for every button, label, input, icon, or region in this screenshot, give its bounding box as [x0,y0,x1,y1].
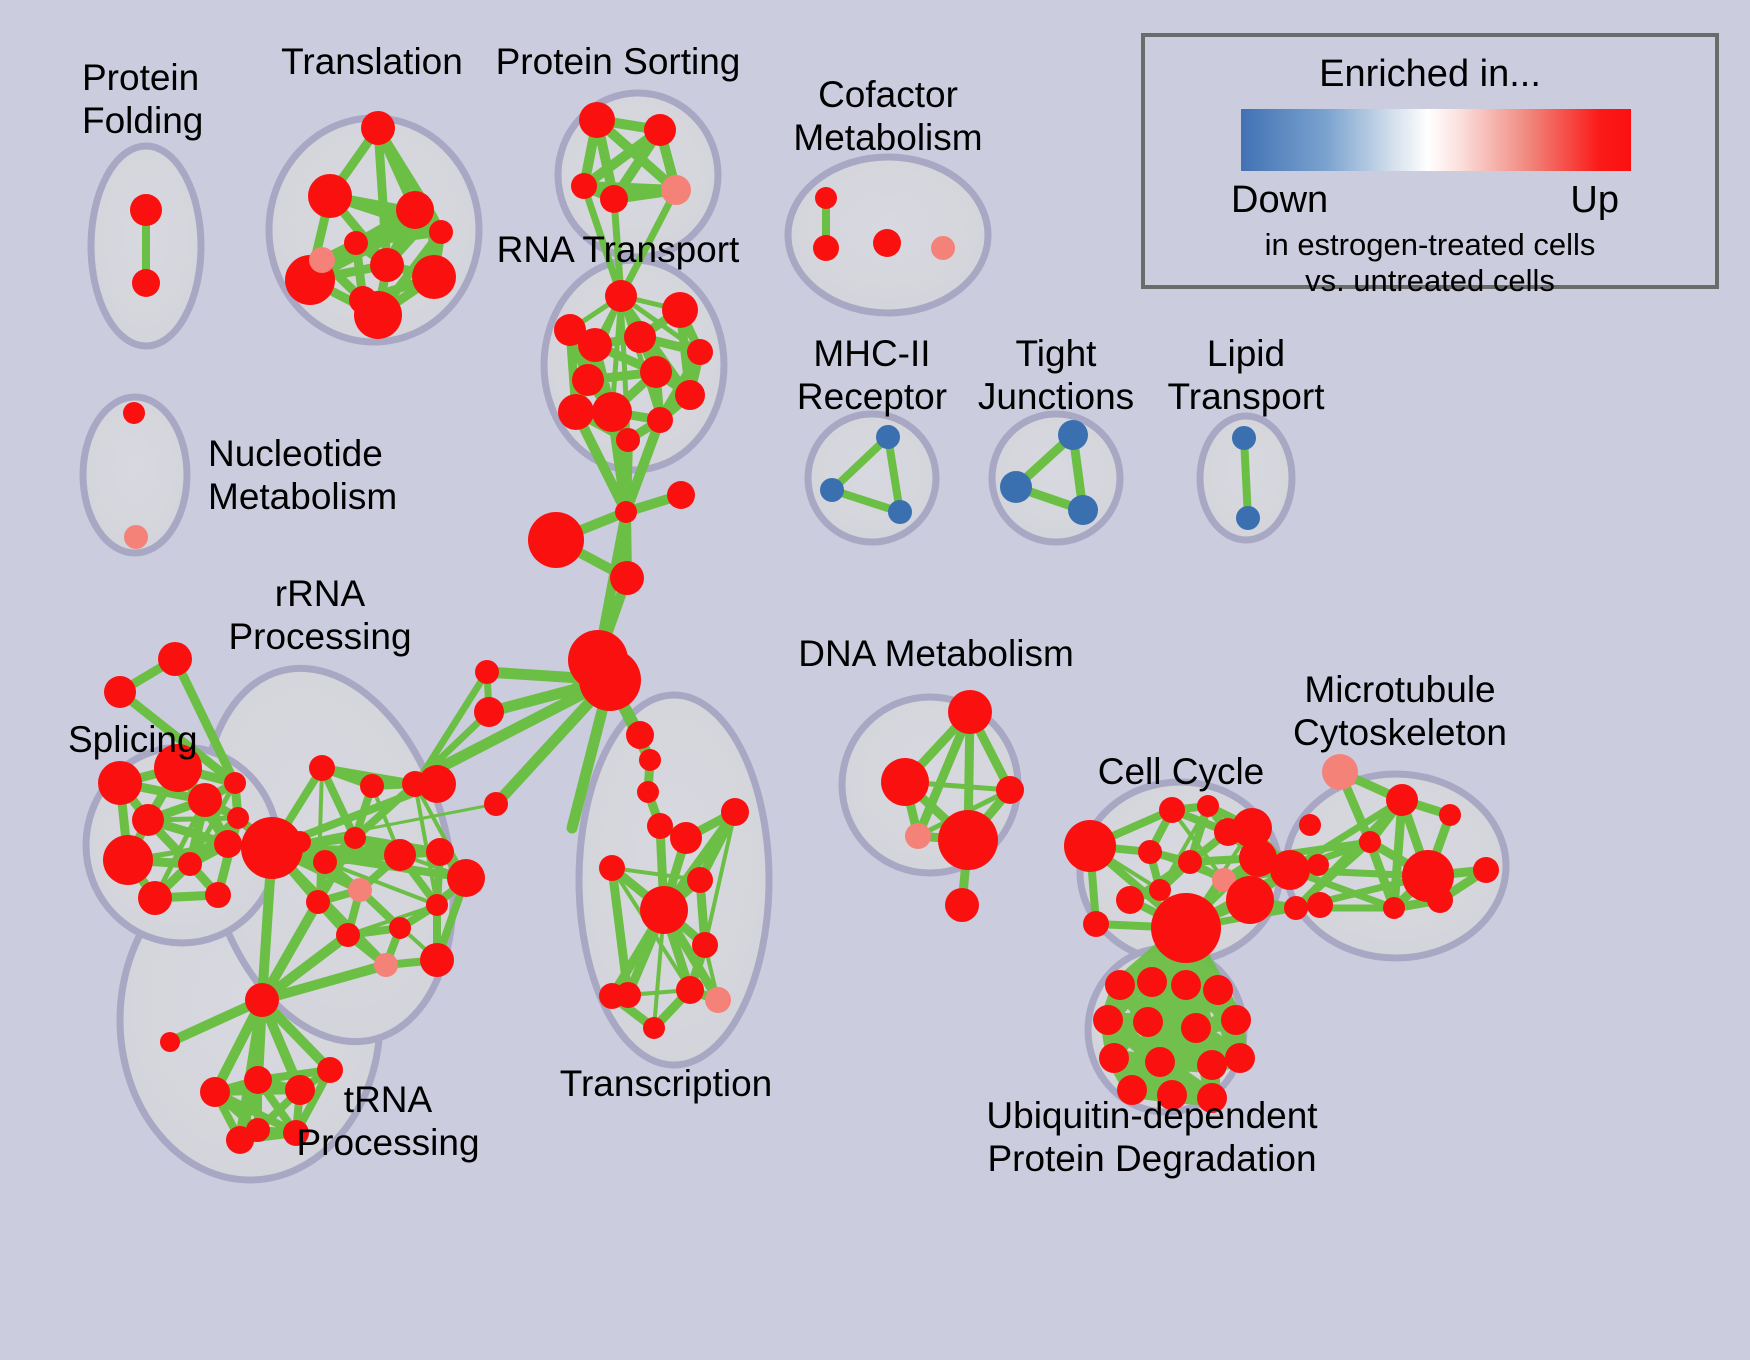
node [1225,1043,1255,1073]
node [484,792,508,816]
node [675,380,705,410]
cluster-label-protein-sorting: Protein Sorting [496,40,741,83]
node [160,1032,180,1052]
cluster-label-lipid-transport: Lipid Transport [1168,332,1325,418]
node [1159,797,1185,823]
node [905,823,931,849]
node [1383,897,1405,919]
node [1197,795,1219,817]
node [370,248,404,282]
node [1099,1043,1129,1073]
node [1137,967,1167,997]
node [389,917,411,939]
node [214,830,242,858]
cluster-label-microtubule-cytoskeleton: Microtubule Cytoskeleton [1293,668,1507,754]
node [1064,820,1116,872]
node [1151,893,1221,963]
node [1236,506,1260,530]
node [1093,1005,1123,1035]
node [245,983,279,1017]
node [426,894,448,916]
node [1439,804,1461,826]
node [1284,896,1308,920]
node [1307,892,1333,918]
node [224,772,246,794]
cluster-label-dna-metabolism: DNA Metabolism [798,632,1074,675]
node [640,886,688,934]
node [1226,876,1274,924]
node [1116,886,1144,914]
node [188,783,222,817]
node [637,781,659,803]
node [1083,911,1109,937]
legend-high-label: Up [1570,179,1619,222]
node [1105,970,1135,1000]
node [616,428,640,452]
node [578,328,612,362]
node [306,890,330,914]
node [1473,857,1499,883]
node [667,481,695,509]
node [412,255,456,299]
node [610,561,644,595]
cluster-label-cofactor-metabolism: Cofactor Metabolism [793,73,982,159]
node [124,525,148,549]
node [721,798,749,826]
node [226,1126,254,1154]
cluster-label-cell-cycle: Cell Cycle [1098,750,1265,793]
node [624,321,656,353]
cluster-label-protein-folding: Protein Folding [82,56,203,142]
node [1203,975,1233,1005]
node [123,402,145,424]
node [873,229,901,257]
node [1145,1047,1175,1077]
node [396,191,434,229]
cluster-label-mhc-ii-receptor: MHC-II Receptor [797,332,947,418]
legend-title: Enriched in... [1145,53,1715,96]
node [418,765,456,803]
node [374,953,398,977]
node [1197,1050,1227,1080]
node [1299,814,1321,836]
cluster-label-rna-transport: RNA Transport [497,228,740,271]
cluster-label-ubiquitin-protein-degradation: Ubiquitin-dependent Protein Degradation [986,1094,1317,1180]
cluster-label-tight-junctions: Tight Junctions [978,332,1134,418]
node [670,822,702,854]
node [354,291,402,339]
node [705,987,731,1013]
node [1386,784,1418,816]
node [687,867,713,893]
node [205,882,231,908]
node [528,512,584,568]
node [813,235,839,261]
node [420,943,454,977]
node [1427,887,1453,913]
node [579,649,641,711]
node [98,761,142,805]
node [605,280,637,312]
node [626,721,654,749]
node [1068,495,1098,525]
node [1359,831,1381,853]
node [643,1017,665,1039]
node [1181,1013,1211,1043]
node [599,855,625,881]
node [640,356,672,388]
node [996,776,1024,804]
node [447,859,485,897]
node [360,774,384,798]
node [474,697,504,727]
node [647,813,673,839]
node [1000,471,1032,503]
node [615,501,637,523]
node [158,642,192,676]
node [344,827,366,849]
node [571,173,597,199]
node [1307,854,1329,876]
node [138,881,172,915]
node [289,831,311,853]
node [227,807,249,829]
cluster-label-transcription: Transcription [560,1062,772,1105]
cluster-label-nucleotide-metabolism: Nucleotide Metabolism [208,432,397,518]
node [1171,970,1201,1000]
enrichment-map-figure: Protein Folding Translation Protein Sort… [0,0,1750,1360]
node [348,878,372,902]
node [361,111,395,145]
node [676,976,704,1004]
node [579,102,615,138]
cluster-blob-mhc-ii-receptor [808,414,936,542]
node [344,231,368,255]
node [1322,754,1358,790]
node [429,220,453,244]
node [572,364,604,396]
node [948,690,992,734]
node [600,185,628,213]
node [1232,426,1256,450]
node [876,425,900,449]
node [820,478,844,502]
legend-panel: Enriched in... Down Up in estrogen-treat… [1141,33,1719,289]
legend-caption-line-2: vs. untreated cells [1145,263,1715,299]
node [661,175,691,205]
node [384,839,416,871]
node [244,1066,272,1094]
node [592,392,632,432]
node [639,749,661,771]
legend-caption-line-1: in estrogen-treated cells [1145,227,1715,263]
cluster-label-rrna-processing: rRNA Processing [228,572,411,658]
node [599,983,625,1009]
node [644,114,676,146]
node [132,804,164,836]
node [200,1077,230,1107]
node [308,174,352,218]
node [945,888,979,922]
legend-low-label: Down [1231,179,1328,222]
node [1178,850,1202,874]
node [309,247,335,273]
node [938,810,998,870]
node [132,269,160,297]
node [178,852,202,876]
node [103,835,153,885]
node [888,500,912,524]
node [426,838,454,866]
node [1221,1005,1251,1035]
node [881,758,929,806]
node [313,850,337,874]
node [1138,840,1162,864]
node [647,407,673,433]
node [1270,850,1310,890]
node [558,394,594,430]
node [815,187,837,209]
node [1149,879,1171,901]
legend-color-bar [1241,109,1631,171]
node [662,292,698,328]
node [692,932,718,958]
node [130,194,162,226]
cluster-label-trna-processing: tRNA Processing [296,1078,479,1164]
node [687,339,713,365]
cluster-label-translation: Translation [281,40,463,83]
node [336,923,360,947]
node [1058,420,1088,450]
node [309,755,335,781]
cluster-label-splicing: Splicing [68,718,198,761]
node [931,236,955,260]
node [475,660,499,684]
node [1133,1007,1163,1037]
node [104,676,136,708]
